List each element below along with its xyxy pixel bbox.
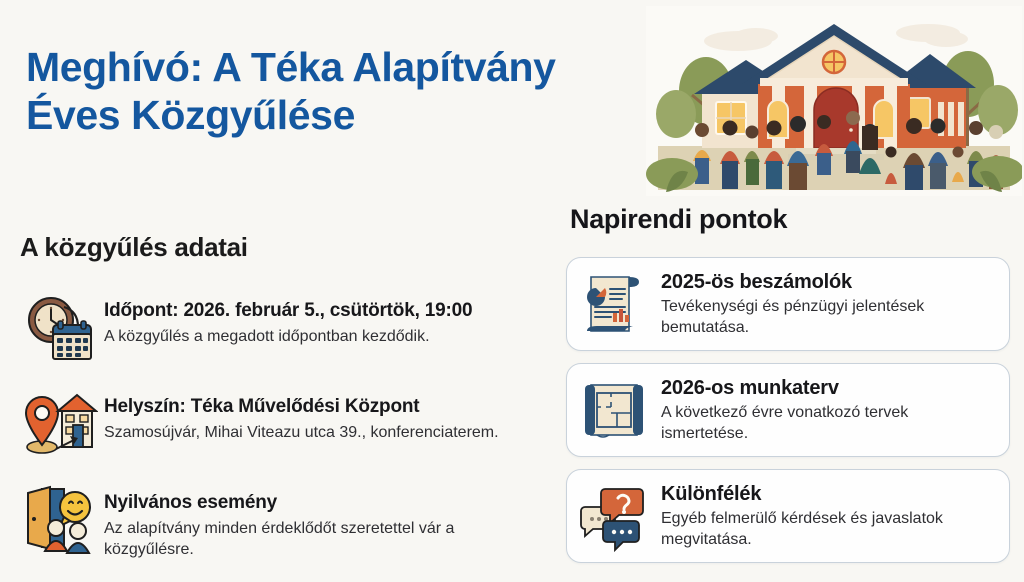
detail-desc-public-event: Az alapítvány minden érdeklődőt szeretet… xyxy=(104,518,524,560)
clock-calendar-icon xyxy=(20,287,98,365)
page-title-line-2: Éves Közgyűlése xyxy=(26,92,646,140)
agenda-title-misc: Különfélék xyxy=(661,482,995,506)
detail-text-venue: Helyszín: Téka Művelődési Központ Szamos… xyxy=(104,387,499,443)
agenda-text-misc: Különfélék Egyéb felmerülő kérdések és j… xyxy=(661,482,995,551)
agenda-desc-workplan: A következő évre vonatkozó tervek ismert… xyxy=(661,403,995,445)
report-scroll-icon xyxy=(577,267,651,341)
detail-text-public-event: Nyilvános esemény Az alapítvány minden é… xyxy=(104,483,524,560)
detail-text-datetime: Időpont: 2026. február 5., csütörtök, 19… xyxy=(104,291,472,347)
agenda-section: Napirendi pontok xyxy=(566,204,1010,575)
agenda-title-workplan: 2026-os munkaterv xyxy=(661,376,995,400)
detail-row-public-event: Nyilvános esemény Az alapítvány minden é… xyxy=(20,483,540,560)
speech-bubbles-question-icon xyxy=(577,479,651,553)
page-title: Meghívó: A Téka Alapítvány Éves Közgyűlé… xyxy=(26,44,646,140)
agenda-card-workplan[interactable]: 2026-os munkaterv A következő évre vonat… xyxy=(566,363,1010,457)
community-building-gathering-illustration xyxy=(646,6,1022,196)
agenda-desc-misc: Egyéb felmerülő kérdések és javaslatok m… xyxy=(661,509,995,551)
detail-title-public-event: Nyilvános esemény xyxy=(104,491,524,515)
agenda-text-workplan: 2026-os munkaterv A következő évre vonat… xyxy=(661,376,995,445)
page-title-line-1: Meghívó: A Téka Alapítvány xyxy=(26,44,646,92)
detail-title-venue: Helyszín: Téka Művelődési Központ xyxy=(104,395,499,419)
open-door-people-icon xyxy=(20,479,98,557)
meeting-details-heading: A közgyűlés adatai xyxy=(20,232,540,263)
detail-desc-venue: Szamosújvár, Mihai Viteazu utca 39., kon… xyxy=(104,422,499,443)
location-pin-building-icon xyxy=(20,383,98,461)
agenda-card-misc[interactable]: Különfélék Egyéb felmerülő kérdések és j… xyxy=(566,469,1010,563)
detail-row-datetime: Időpont: 2026. február 5., csütörtök, 19… xyxy=(20,291,540,365)
agenda-desc-reports: Tevékenységi és pénzügyi jelentések bemu… xyxy=(661,297,995,339)
agenda-title-reports: 2025-ös beszámolók xyxy=(661,270,995,294)
detail-title-datetime: Időpont: 2026. február 5., csütörtök, 19… xyxy=(104,299,472,323)
meeting-details-section: A közgyűlés adatai xyxy=(20,232,540,582)
poster-root: Meghívó: A Téka Alapítvány Éves Közgyűlé… xyxy=(0,0,1024,582)
detail-desc-datetime: A közgyűlés a megadott időpontban kezdőd… xyxy=(104,326,472,347)
agenda-heading: Napirendi pontok xyxy=(566,204,1010,235)
blueprint-plan-icon xyxy=(577,373,651,447)
agenda-text-reports: 2025-ös beszámolók Tevékenységi és pénzü… xyxy=(661,270,995,339)
agenda-card-reports[interactable]: 2025-ös beszámolók Tevékenységi és pénzü… xyxy=(566,257,1010,351)
detail-row-venue: Helyszín: Téka Művelődési Központ Szamos… xyxy=(20,387,540,461)
